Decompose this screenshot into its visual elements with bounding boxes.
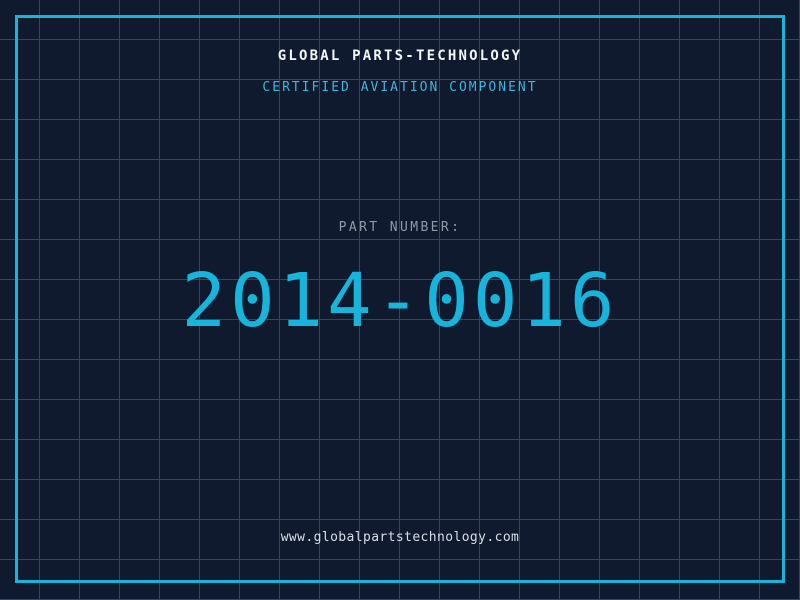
part-number-label: PART NUMBER: xyxy=(0,219,800,237)
blueprint-part-card: GLOBAL PARTS-TECHNOLOGY CERTIFIED AVIATI… xyxy=(0,0,800,600)
part-number-value: 2014-0016 xyxy=(0,262,800,340)
certification-subtitle: CERTIFIED AVIATION COMPONENT xyxy=(0,79,800,97)
card-content: GLOBAL PARTS-TECHNOLOGY CERTIFIED AVIATI… xyxy=(0,0,800,600)
company-title: GLOBAL PARTS-TECHNOLOGY xyxy=(0,47,800,65)
footer-website-url: www.globalpartstechnology.com xyxy=(0,529,800,547)
